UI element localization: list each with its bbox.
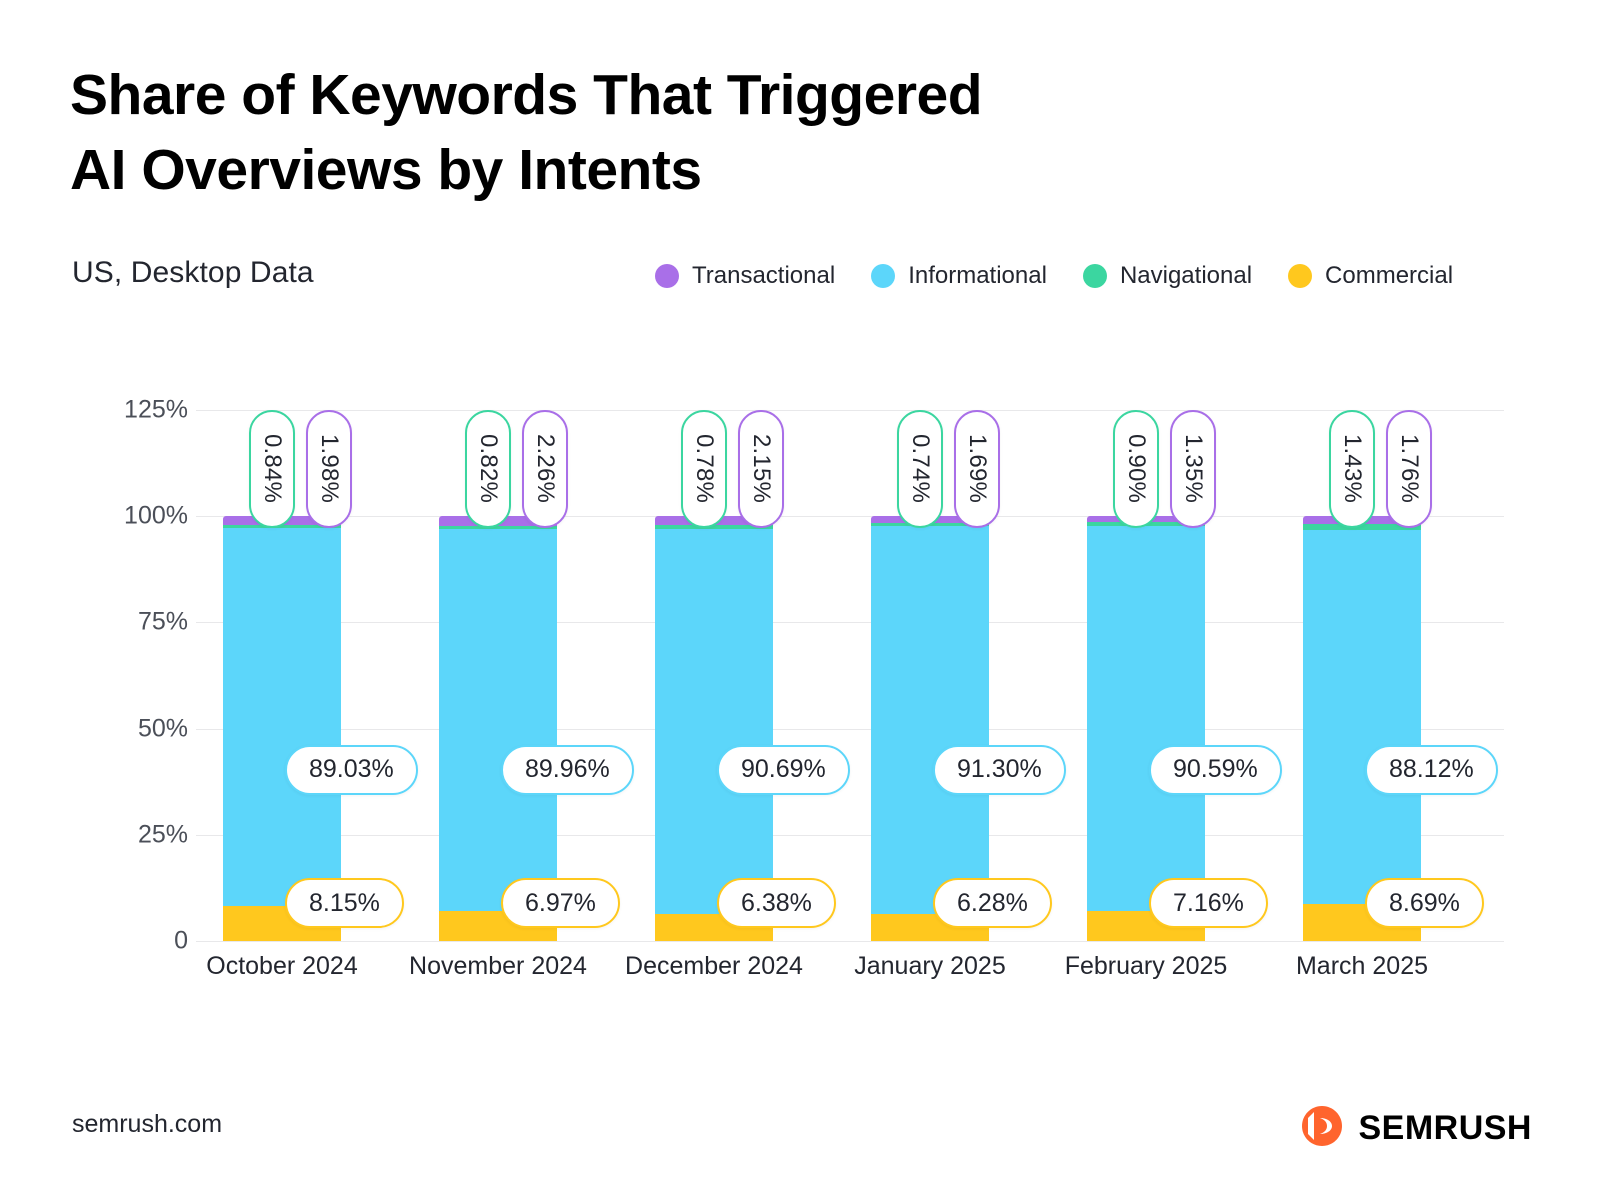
bar-segment-commercial[interactable] xyxy=(1303,904,1421,941)
value-label-transactional: 2.15% xyxy=(738,410,784,528)
gridline xyxy=(196,729,1504,730)
bar-group[interactable] xyxy=(439,410,557,941)
value-label-transactional: 1.76% xyxy=(1386,410,1432,528)
value-label-navigational: 0.78% xyxy=(681,410,727,528)
value-label-transactional: 1.69% xyxy=(954,410,1000,528)
bar-segment-transactional[interactable] xyxy=(223,516,341,524)
x-axis-category-label: February 2025 xyxy=(1065,952,1228,981)
gridline xyxy=(196,941,1504,942)
bar-segment-informational[interactable] xyxy=(1303,530,1421,904)
bar-segment-navigational[interactable] xyxy=(439,526,557,529)
legend-label: Transactional xyxy=(692,262,835,290)
gridline xyxy=(196,410,1504,411)
bar-segment-transactional[interactable] xyxy=(1303,516,1421,523)
bar-segment-commercial[interactable] xyxy=(439,911,557,941)
legend-item-navigational[interactable]: Navigational xyxy=(1083,262,1252,290)
value-label-commercial: 6.97% xyxy=(501,878,620,928)
value-label-commercial: 8.69% xyxy=(1365,878,1484,928)
stacked-bar[interactable] xyxy=(655,516,773,941)
value-label-navigational: 0.90% xyxy=(1113,410,1159,528)
stacked-bar[interactable] xyxy=(871,516,989,941)
bar-group[interactable] xyxy=(655,410,773,941)
bar-group[interactable] xyxy=(871,410,989,941)
legend-swatch-icon xyxy=(1083,264,1107,288)
legend-swatch-icon xyxy=(871,264,895,288)
value-label-navigational: 0.82% xyxy=(465,410,511,528)
bar-segment-transactional[interactable] xyxy=(871,516,989,523)
x-axis-category-label: January 2025 xyxy=(854,952,1006,981)
page-title: Share of Keywords That Triggered AI Over… xyxy=(70,58,1190,208)
value-label-navigational: 0.74% xyxy=(897,410,943,528)
footer-url: semrush.com xyxy=(72,1110,222,1139)
value-label-commercial: 6.38% xyxy=(717,878,836,928)
plot-area: 025%50%75%100%125%0.84%1.98%89.03%8.15%0… xyxy=(196,410,1504,941)
value-label-transactional: 1.35% xyxy=(1170,410,1216,528)
bar-segment-commercial[interactable] xyxy=(223,906,341,941)
value-label-informational: 88.12% xyxy=(1365,745,1498,795)
bar-segment-informational[interactable] xyxy=(439,529,557,911)
gridline xyxy=(196,835,1504,836)
legend-item-informational[interactable]: Informational xyxy=(871,262,1047,290)
y-axis-tick-label: 50% xyxy=(68,714,188,743)
x-axis-category-label: November 2024 xyxy=(409,952,587,981)
legend-label: Commercial xyxy=(1325,262,1453,290)
y-axis-tick-label: 25% xyxy=(68,820,188,849)
y-axis-tick-label: 100% xyxy=(68,502,188,531)
legend-label: Navigational xyxy=(1120,262,1252,290)
bar-segment-commercial[interactable] xyxy=(871,914,989,941)
bar-segment-navigational[interactable] xyxy=(1087,522,1205,526)
value-label-navigational: 1.43% xyxy=(1329,410,1375,528)
bar-segment-navigational[interactable] xyxy=(223,525,341,529)
value-label-commercial: 8.15% xyxy=(285,878,404,928)
stacked-bar[interactable] xyxy=(223,516,341,941)
bar-segment-transactional[interactable] xyxy=(1087,516,1205,522)
value-label-transactional: 2.26% xyxy=(522,410,568,528)
brand-logo: SEMRUSH xyxy=(1300,1104,1532,1153)
y-axis-tick-label: 75% xyxy=(68,608,188,637)
value-label-commercial: 7.16% xyxy=(1149,878,1268,928)
chart-legend: TransactionalInformationalNavigationalCo… xyxy=(655,262,1453,290)
value-label-informational: 89.03% xyxy=(285,745,418,795)
bar-group[interactable] xyxy=(1087,410,1205,941)
bar-segment-informational[interactable] xyxy=(871,526,989,914)
bar-segment-transactional[interactable] xyxy=(655,516,773,525)
value-label-transactional: 1.98% xyxy=(306,410,352,528)
legend-swatch-icon xyxy=(1288,264,1312,288)
bar-segment-navigational[interactable] xyxy=(1303,524,1421,530)
legend-item-commercial[interactable]: Commercial xyxy=(1288,262,1453,290)
value-label-informational: 89.96% xyxy=(501,745,634,795)
bar-segment-informational[interactable] xyxy=(655,529,773,914)
stacked-bar[interactable] xyxy=(1303,516,1421,941)
bar-group[interactable] xyxy=(223,410,341,941)
bar-segment-commercial[interactable] xyxy=(1087,911,1205,941)
value-label-informational: 90.69% xyxy=(717,745,850,795)
bar-segment-navigational[interactable] xyxy=(871,523,989,526)
legend-swatch-icon xyxy=(655,264,679,288)
x-axis-category-label: October 2024 xyxy=(206,952,358,981)
value-label-informational: 91.30% xyxy=(933,745,1066,795)
stacked-bar[interactable] xyxy=(439,516,557,941)
y-axis-tick-label: 125% xyxy=(68,396,188,425)
bar-group[interactable] xyxy=(1303,410,1421,941)
gridline xyxy=(196,516,1504,517)
x-axis-category-label: December 2024 xyxy=(625,952,803,981)
bar-segment-informational[interactable] xyxy=(1087,526,1205,911)
bar-segment-commercial[interactable] xyxy=(655,914,773,941)
stacked-bar[interactable] xyxy=(1087,516,1205,941)
y-axis-tick-label: 0 xyxy=(68,927,188,956)
x-axis-category-label: March 2025 xyxy=(1296,952,1428,981)
brand-text: SEMRUSH xyxy=(1358,1109,1532,1148)
legend-item-transactional[interactable]: Transactional xyxy=(655,262,835,290)
chart-subtitle: US, Desktop Data xyxy=(72,256,314,290)
semrush-logo-icon xyxy=(1300,1104,1344,1153)
gridline xyxy=(196,622,1504,623)
value-label-navigational: 0.84% xyxy=(249,410,295,528)
value-label-informational: 90.59% xyxy=(1149,745,1282,795)
bar-segment-navigational[interactable] xyxy=(655,525,773,528)
legend-label: Informational xyxy=(908,262,1047,290)
bar-segment-transactional[interactable] xyxy=(439,516,557,526)
bar-segment-informational[interactable] xyxy=(223,528,341,906)
value-label-commercial: 6.28% xyxy=(933,878,1052,928)
